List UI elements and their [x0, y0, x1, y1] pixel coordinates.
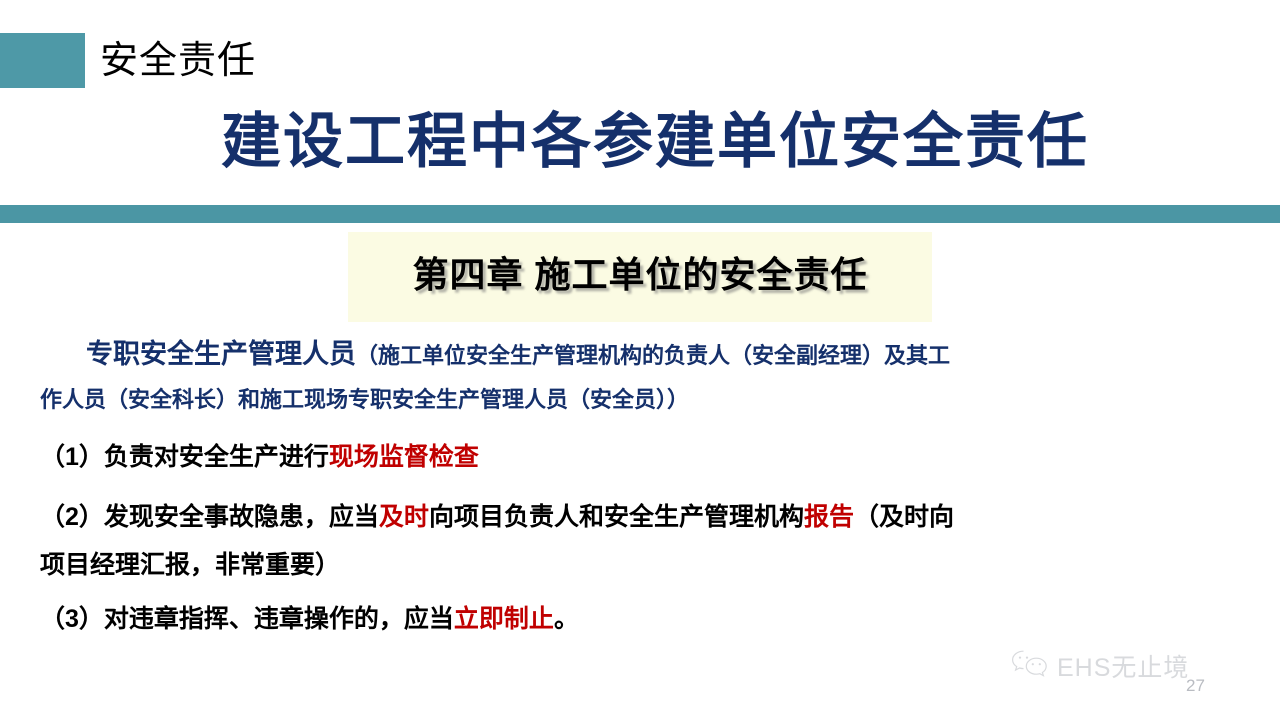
list-item-2-number: （2） — [40, 503, 104, 531]
list-item-3-highlight: 立即制止 — [454, 605, 554, 633]
list-item-2-highlight: 及时 — [379, 503, 429, 531]
list-item-2-text-before: 发现安全事故隐患，应当 — [104, 503, 379, 531]
list-item-2-text-after: （及时向 — [854, 503, 954, 531]
intro-paragraph-line-1: 专职安全生产管理人员（施工单位安全生产管理机构的负责人（安全副经理）及其工 — [40, 334, 1240, 379]
list-item-2-line-1: （2）发现安全事故隐患，应当及时向项目负责人和安全生产管理机构报告（及时向 — [40, 503, 954, 531]
intro-lead-text: 专职安全生产管理人员 — [86, 339, 356, 369]
list-item-1-text: 负责对安全生产进行 — [104, 443, 329, 471]
header-accent-square — [0, 33, 85, 88]
intro-paragraph: 专职安全生产管理人员（施工单位安全生产管理机构的负责人（安全副经理）及其工 作人… — [40, 334, 1240, 424]
intro-rest-line-1: （施工单位安全生产管理机构的负责人（安全副经理）及其工 — [356, 343, 950, 368]
list-item-1-number: （1） — [40, 443, 104, 471]
list-item-3-text-after: 。 — [554, 605, 579, 633]
list-item-3-text: 对违章指挥、违章操作的，应当 — [104, 605, 454, 633]
list-item-3-number: （3） — [40, 605, 104, 633]
wechat-icon — [1010, 649, 1050, 684]
list-item-2-line-2: 项目经理汇报，非常重要） — [40, 541, 1240, 589]
chapter-heading: 第四章 施工单位的安全责任 — [348, 248, 932, 302]
intro-paragraph-line-2: 作人员（安全科长）和施工现场专职安全生产管理人员（安全员）） — [40, 379, 1240, 424]
header-kicker: 安全责任 — [100, 36, 256, 86]
body-content: 专职安全生产管理人员（施工单位安全生产管理机构的负责人（安全副经理）及其工 作人… — [40, 334, 1240, 639]
list-item: （1）负责对安全生产进行现场监督检查 — [40, 438, 1240, 476]
header-divider-bar — [0, 205, 1280, 223]
page-number: 27 — [1186, 676, 1205, 696]
list-item: （2）发现安全事故隐患，应当及时向项目负责人和安全生产管理机构报告（及时向 项目… — [40, 493, 1240, 589]
watermark-label: EHS无止境 — [1057, 648, 1189, 684]
intro-rest-line-2: 作人员（安全科长）和施工现场专职安全生产管理人员（安全员）） — [40, 387, 689, 412]
page-title: 建设工程中各参建单位安全责任 — [0, 104, 1280, 180]
list-item-2-text-mid: 向项目负责人和安全生产管理机构 — [429, 503, 804, 531]
list-item: （3）对违章指挥、违章操作的，应当立即制止。 — [40, 599, 1240, 639]
list-item-1-highlight: 现场监督检查 — [329, 443, 479, 471]
watermark: EHS无止境 — [1010, 648, 1189, 684]
slide-canvas: 安全责任 建设工程中各参建单位安全责任 第四章 施工单位的安全责任 专职安全生产… — [0, 0, 1280, 720]
list-item-2-highlight-2: 报告 — [804, 503, 854, 531]
